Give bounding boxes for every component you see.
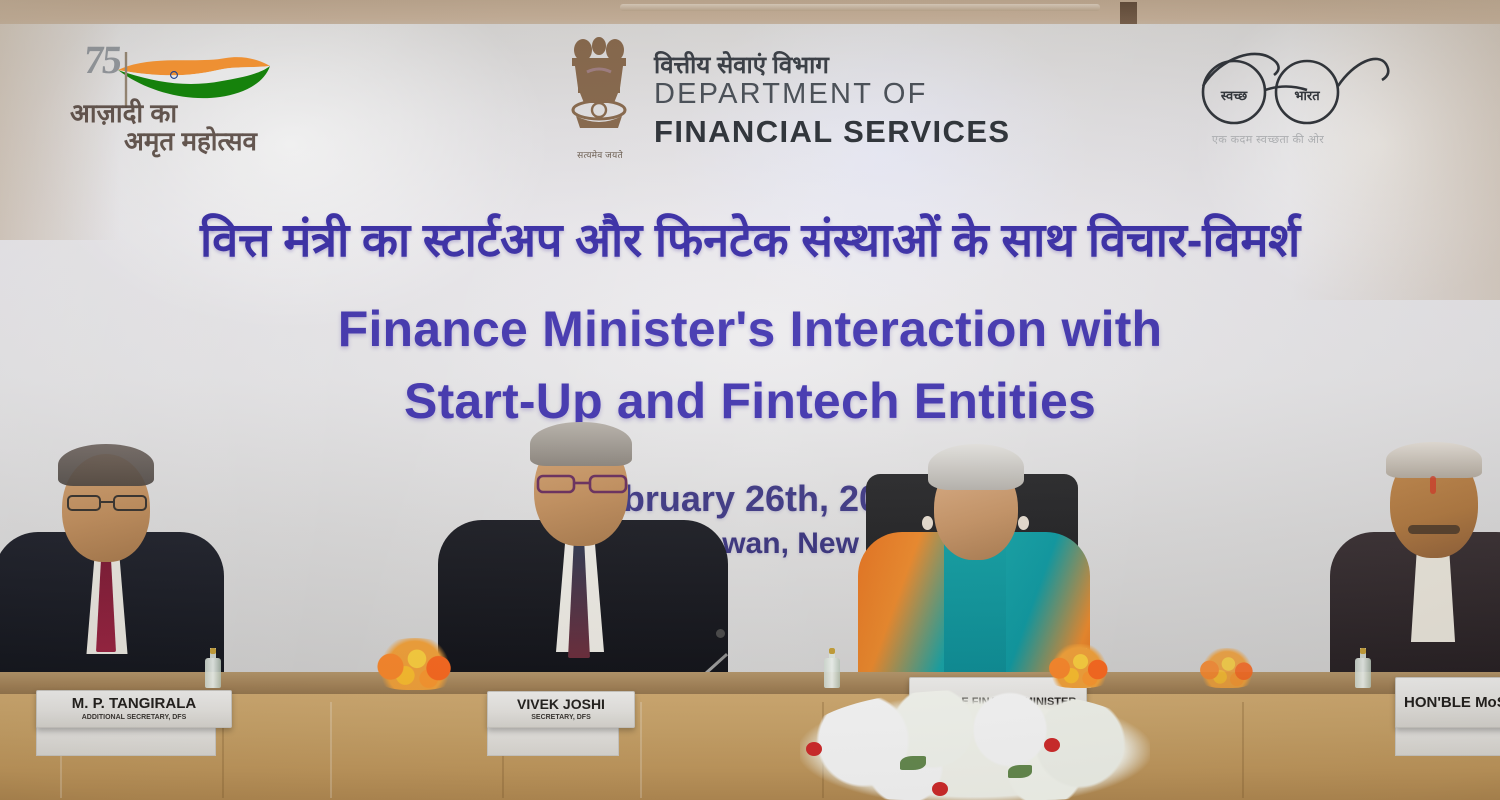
nameplate-name: M. P. TANGIRALA	[72, 696, 196, 711]
amrit-line2: अमृत महोत्सव	[124, 122, 257, 158]
eyeglasses-icon	[64, 490, 150, 514]
bottle-cap	[210, 648, 216, 654]
dfs-english-line2: FINANCIAL SERVICES	[654, 114, 1011, 150]
swachh-lens-left-text: स्वच्छ	[1202, 86, 1266, 104]
hair	[1386, 442, 1482, 478]
microphone-head	[716, 629, 725, 638]
nameplate-tangirala: M. P. TANGIRALA ADDITIONAL SECRETARY, DF…	[36, 690, 232, 728]
table-panel-segment	[330, 702, 504, 798]
hair	[530, 422, 632, 466]
person-vivek-joshi	[438, 412, 728, 682]
leaf	[900, 756, 926, 770]
department-of-financial-services-logo: सत्यमेव जयते वित्तीय सेवाएं विभाग DEPART…	[562, 24, 962, 174]
bottle-cap	[1360, 648, 1366, 654]
leaf	[1008, 765, 1032, 778]
flower-arrangement-orange	[1040, 644, 1118, 688]
earring-left	[922, 516, 933, 530]
red-rose	[1044, 738, 1060, 752]
nameplate-mos: HON'BLE MoS	[1395, 677, 1500, 728]
hair	[928, 444, 1024, 490]
event-photograph: 75 आज़ादी का अमृत महोत्सव	[0, 0, 1500, 800]
emblem-motto: सत्यमेव जयते	[564, 148, 636, 161]
dfs-english-line1: DEPARTMENT OF	[654, 78, 928, 111]
flower-arrangement-orange	[366, 638, 464, 690]
moustache	[1408, 525, 1460, 534]
dfs-hindi-name: वित्तीय सेवाएं विभाग	[654, 48, 829, 81]
event-venue: Vigyan Bhawan, New Delhi	[0, 527, 1500, 561]
nameplate-name: VIVEK JOSHI	[517, 697, 605, 711]
nameplate-name: HON'BLE MoS	[1404, 695, 1500, 710]
ashoka-pillar-emblem-icon	[562, 30, 636, 150]
wall-rail	[620, 4, 1100, 11]
azadi-ka-amrit-mahotsav-logo: 75 आज़ादी का अमृत महोत्सव	[62, 32, 292, 172]
event-date: February 26th, 2024	[0, 478, 1500, 520]
person-finance-minister	[848, 422, 1098, 682]
person-tangirala	[0, 432, 224, 682]
event-title-english-line2: Start-Up and Fintech Entities	[0, 372, 1500, 430]
bottle-body	[824, 658, 840, 688]
person-mos	[1330, 426, 1500, 682]
nameplate-role: ADDITIONAL SECRETARY, DFS	[82, 714, 187, 721]
tilak	[1430, 476, 1436, 494]
nameplate-role: SECRETARY, DFS	[531, 714, 591, 721]
swachh-bharat-logo: स्वच्छ भारत एक कदम स्वच्छता की ओर	[1172, 34, 1402, 164]
bottle-body	[1355, 658, 1371, 688]
flower-arrangement-orange	[1192, 648, 1262, 688]
event-title-english-line1: Finance Minister's Interaction with	[0, 300, 1500, 358]
water-bottle	[824, 648, 840, 688]
event-title-hindi: वित्त मंत्री का स्टार्टअप और फिनटेक संस्…	[0, 206, 1500, 270]
bottle-body	[205, 658, 221, 688]
red-rose	[932, 782, 948, 796]
table-panel-segment	[640, 702, 824, 798]
eyeglasses-icon	[534, 470, 630, 496]
water-bottle	[205, 648, 221, 688]
logo-row: 75 आज़ादी का अमृत महोत्सव	[0, 18, 1500, 168]
water-bottle	[1355, 648, 1371, 688]
swachh-bharat-tagline: एक कदम स्वच्छता की ओर	[1178, 132, 1358, 147]
bottle-cap	[829, 648, 835, 654]
swachh-lens-right-text: भारत	[1275, 86, 1339, 104]
red-rose	[806, 742, 822, 756]
earring-right	[1018, 516, 1029, 530]
flower-arrangement-white	[800, 690, 1150, 800]
hair	[58, 444, 154, 486]
nameplate-vivek-joshi: VIVEK JOSHI SECRETARY, DFS	[487, 691, 635, 728]
